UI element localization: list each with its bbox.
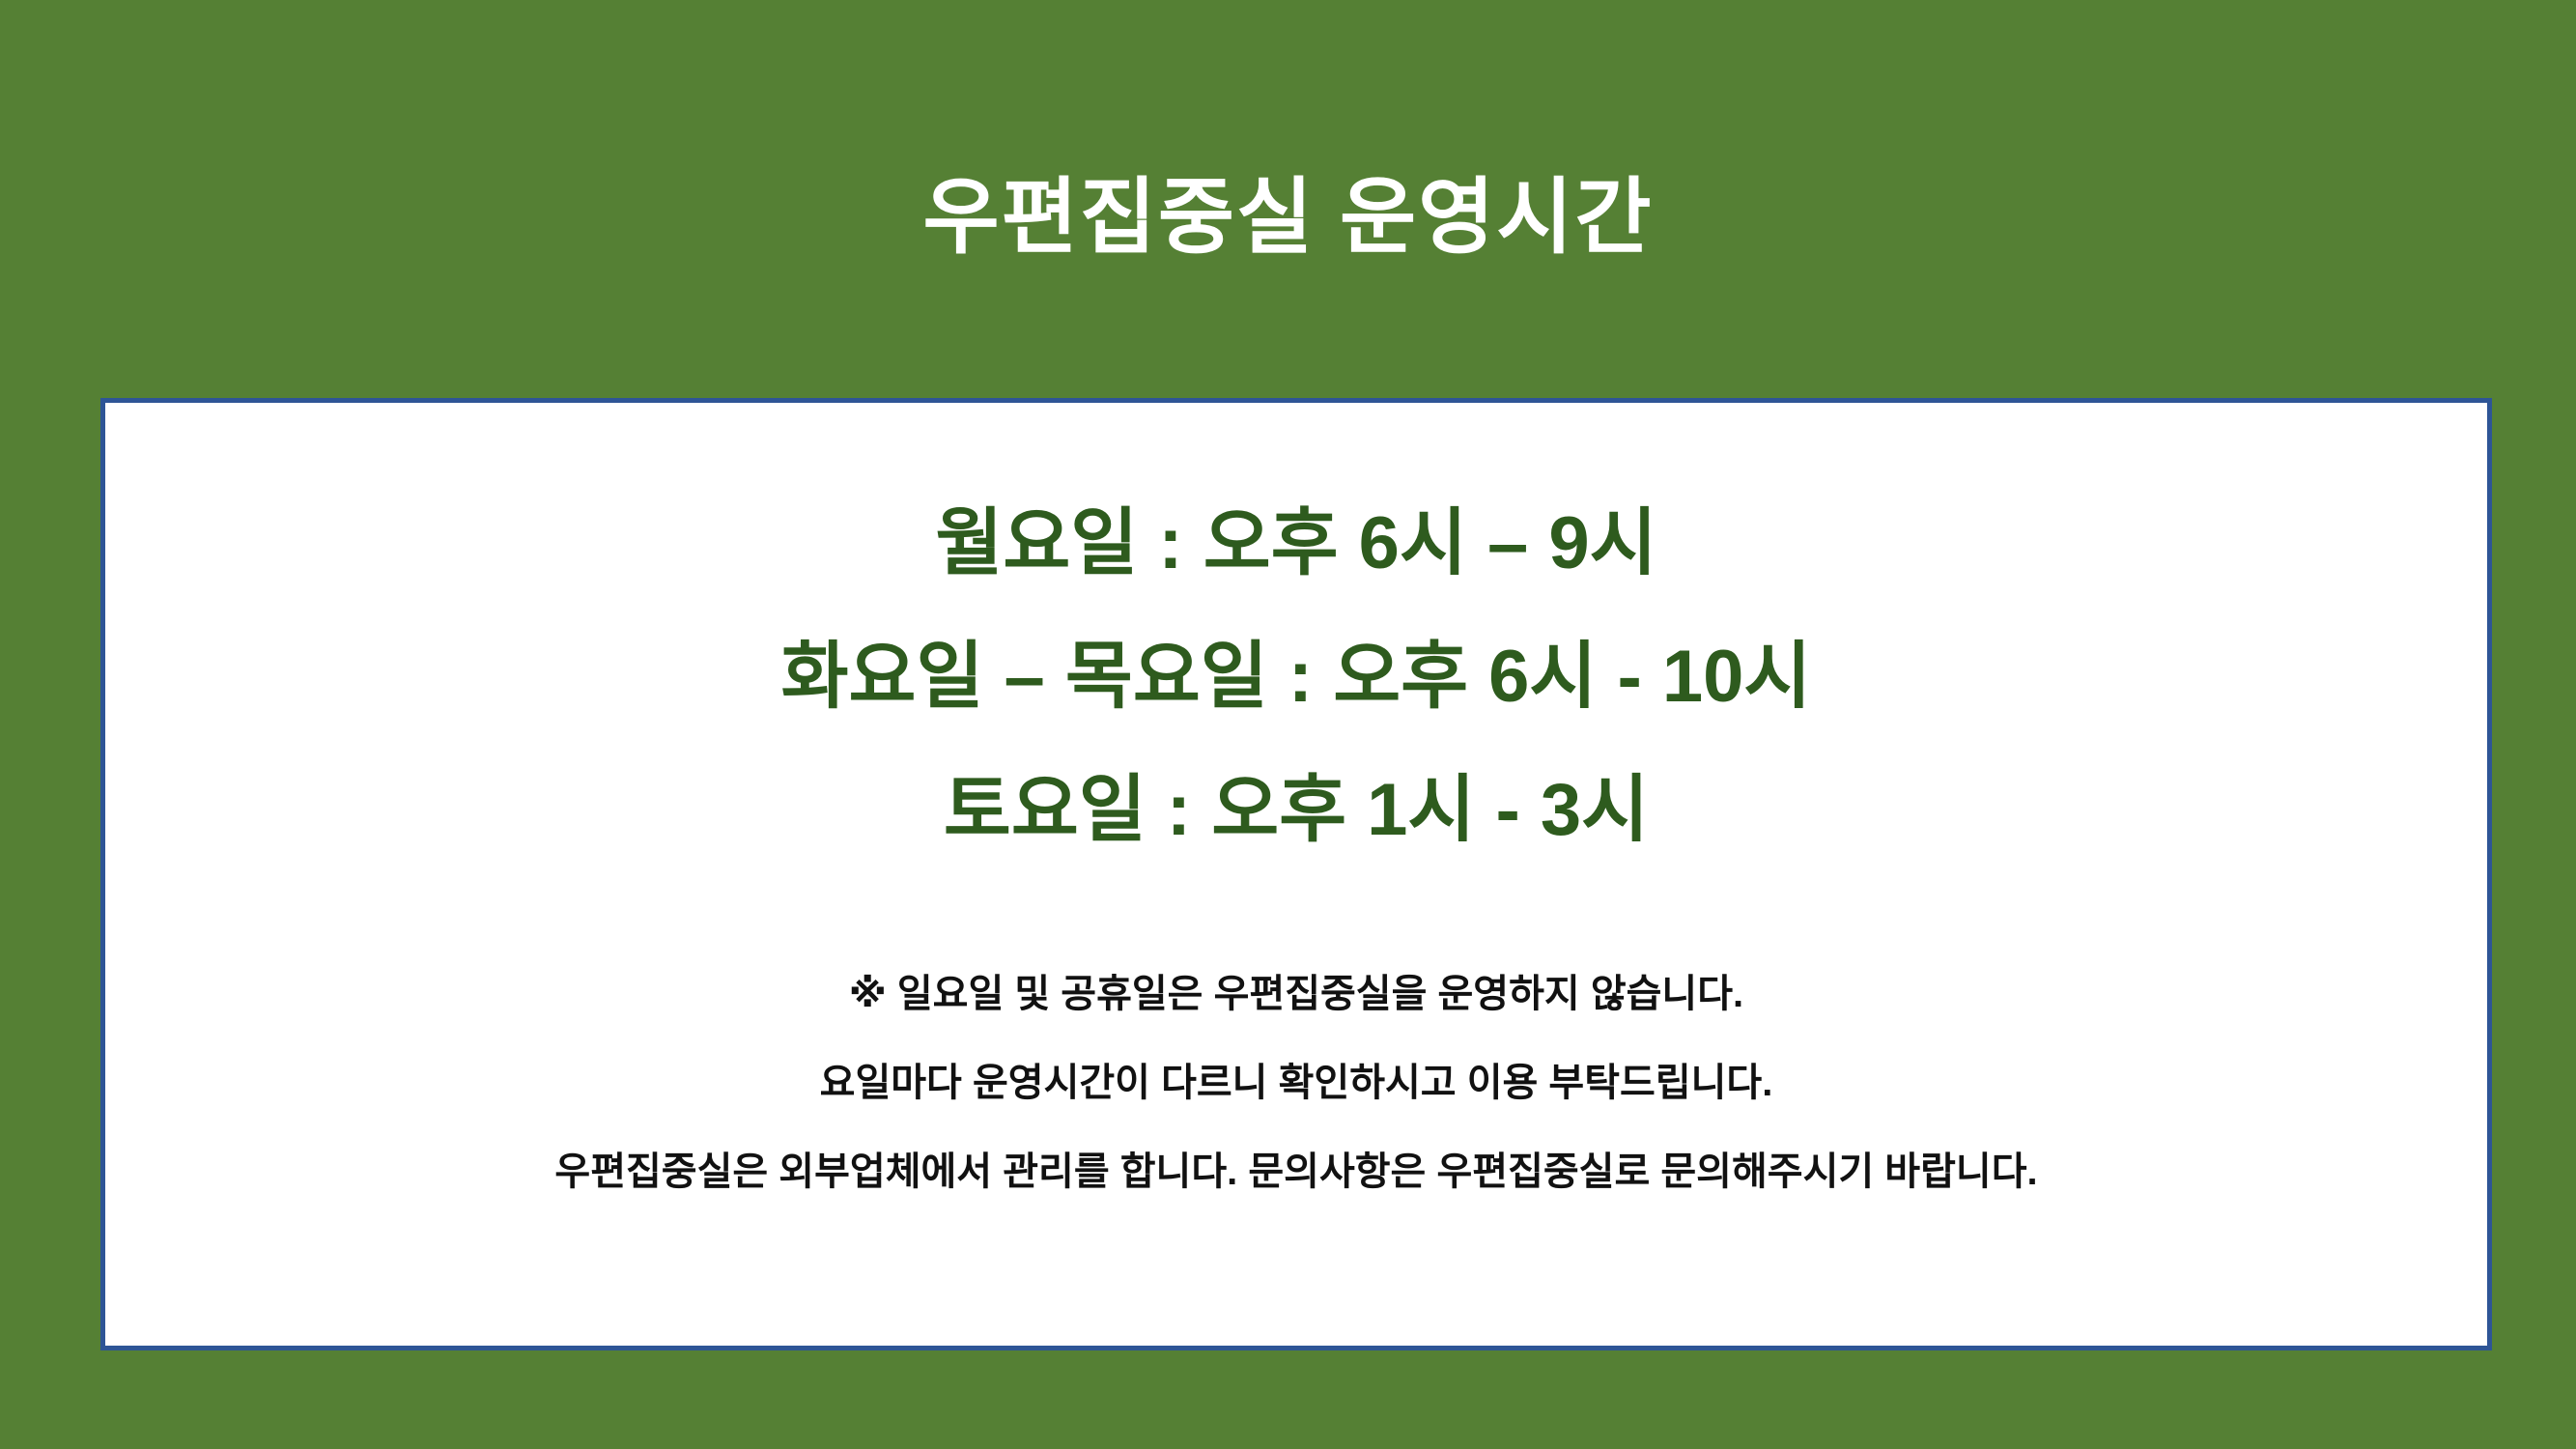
- page-title: 우편집중실 운영시간: [0, 170, 2576, 266]
- operating-hours-list: 월요일 : 오후 6시 – 9시 화요일 – 목요일 : 오후 6시 - 10시…: [105, 507, 2487, 847]
- hours-row-saturday: 토요일 : 오후 1시 - 3시: [105, 774, 2487, 847]
- note-external-management-contact: 우편집중실은 외부업체에서 관리를 합니다. 문의사항은 우편집중실로 문의해주…: [105, 1152, 2487, 1191]
- hours-row-monday: 월요일 : 오후 6시 – 9시: [105, 507, 2487, 581]
- poster-canvas: 우편집중실 운영시간 월요일 : 오후 6시 – 9시 화요일 – 목요일 : …: [0, 0, 2576, 1449]
- note-closed-sunday-holidays: ※ 일요일 및 공휴일은 우편집중실을 운영하지 않습니다.: [105, 975, 2487, 1013]
- notice-card: 월요일 : 오후 6시 – 9시 화요일 – 목요일 : 오후 6시 - 10시…: [100, 398, 2492, 1350]
- note-hours-vary: 요일마다 운영시간이 다르니 확인하시고 이용 부탁드립니다.: [105, 1064, 2487, 1102]
- hours-row-tuesday-thursday: 화요일 – 목요일 : 오후 6시 - 10시: [105, 640, 2487, 714]
- notes-list: ※ 일요일 및 공휴일은 우편집중실을 운영하지 않습니다. 요일마다 운영시간…: [105, 975, 2487, 1191]
